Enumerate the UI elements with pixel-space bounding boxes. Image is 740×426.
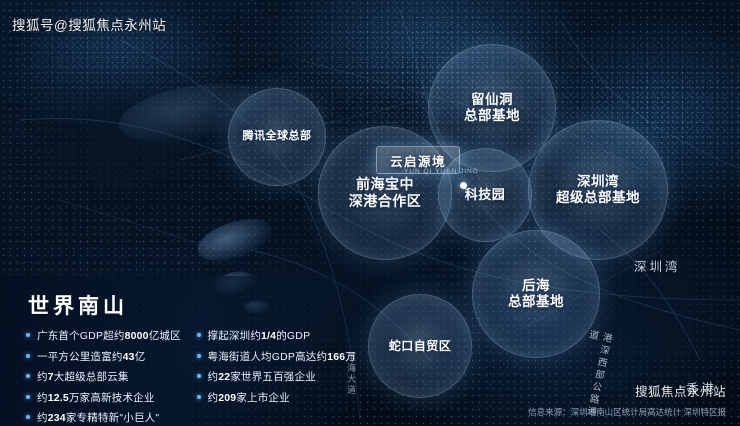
source-note: 信息来源：深圳市南山区统计局高达统计 深圳特区报: [528, 406, 726, 418]
bullet-item: 约22家世界五百强企业: [197, 369, 356, 384]
project-badge-subtitle: YUN QI YUAN JING: [404, 168, 479, 175]
bullet-highlight: 166: [327, 351, 345, 363]
bullet-post: 亿: [135, 351, 146, 363]
bullet-post: 万家高新技术企业: [69, 392, 155, 404]
geo-label-shenzhen-bay: 深圳湾: [634, 256, 681, 275]
bullet-pre: 广东首个GDP超约: [37, 330, 125, 342]
bullet-column-right: 撑起深圳约1/4的GDP 粤海街道人均GDP高达约166万 约22家世界五百强企…: [197, 328, 356, 425]
panel-title: 世界南山: [28, 290, 128, 320]
bullet-highlight: 1/4: [261, 330, 276, 342]
bullet-post: 家专精特新"小巨人": [66, 412, 159, 424]
bullet-pre: 约: [37, 412, 48, 424]
bullet-item: 约234家专精特新"小巨人": [26, 410, 191, 425]
hotspot-houhai[interactable]: 后海 总部基地: [472, 230, 600, 358]
bullet-highlight: 8000: [125, 330, 149, 342]
bullet-item: 约12.5万家高新技术企业: [26, 390, 191, 405]
hotspot-label: 蛇口自贸区: [389, 339, 452, 354]
hotspot-label: 留仙洞 总部基地: [464, 92, 520, 125]
bullet-item: 一平方公里造富约43亿: [26, 349, 191, 364]
bullet-post: 万: [345, 351, 356, 363]
hotspot-label: 科技园: [465, 187, 506, 203]
bullet-pre: 粤海街道人均GDP高达约: [208, 351, 328, 363]
bullet-pre: 约: [37, 392, 48, 404]
bullet-pre: 撑起深圳约: [208, 330, 262, 342]
info-panel: 世界南山 广东首个GDP超约8000亿城区 一平方公里造富约43亿 约7大超级总…: [0, 276, 352, 426]
bullet-item: 粤海街道人均GDP高达约166万: [197, 349, 356, 364]
bullet-highlight: 22: [218, 371, 230, 383]
watermark-bottom: 搜狐焦点永州站: [635, 381, 726, 400]
hotspot-label: 前海宝中 深港合作区: [349, 176, 422, 210]
map-screenshot: 腾讯全球总部 留仙洞 总部基地 前海宝中 深港合作区 科技园 深圳湾 超级总部基…: [0, 0, 740, 426]
bullet-highlight: 209: [218, 392, 236, 404]
bullet-highlight: 234: [48, 412, 66, 424]
bullet-pre: 约: [208, 392, 219, 404]
bullet-highlight: 43: [123, 351, 135, 363]
hotspot-tencent[interactable]: 腾讯全球总部: [228, 88, 326, 186]
watermark-top: 搜狐号@搜狐焦点永州站: [12, 14, 166, 34]
bullet-column-left: 广东首个GDP超约8000亿城区 一平方公里造富约43亿 约7大超级总部云集 约…: [26, 328, 191, 425]
hotspot-shekou[interactable]: 蛇口自贸区: [368, 294, 472, 398]
hotspot-label: 深圳湾 超级总部基地: [556, 174, 640, 207]
location-marker-dot: [460, 182, 467, 189]
panel-bullets: 广东首个GDP超约8000亿城区 一平方公里造富约43亿 约7大超级总部云集 约…: [26, 328, 356, 425]
bullet-post: 家世界五百强企业: [230, 371, 316, 383]
hotspot-label: 后海 总部基地: [508, 278, 564, 311]
bullet-item: 撑起深圳约1/4的GDP: [197, 328, 356, 343]
bullet-item: 广东首个GDP超约8000亿城区: [26, 328, 191, 343]
bullet-post: 的GDP: [276, 330, 310, 342]
bullet-post: 家上市企业: [236, 392, 290, 404]
bullet-pre: 一平方公里造富约: [37, 351, 123, 363]
bullet-pre: 约: [37, 371, 48, 383]
bullet-pre: 约: [208, 371, 219, 383]
hotspot-label: 腾讯全球总部: [243, 130, 312, 143]
bullet-post: 亿城区: [149, 330, 181, 342]
bullet-highlight: 12.5: [48, 392, 69, 404]
bullet-item: 约209家上市企业: [197, 390, 356, 405]
bullet-post: 大超级总部云集: [54, 371, 129, 383]
bullet-item: 约7大超级总部云集: [26, 369, 191, 384]
